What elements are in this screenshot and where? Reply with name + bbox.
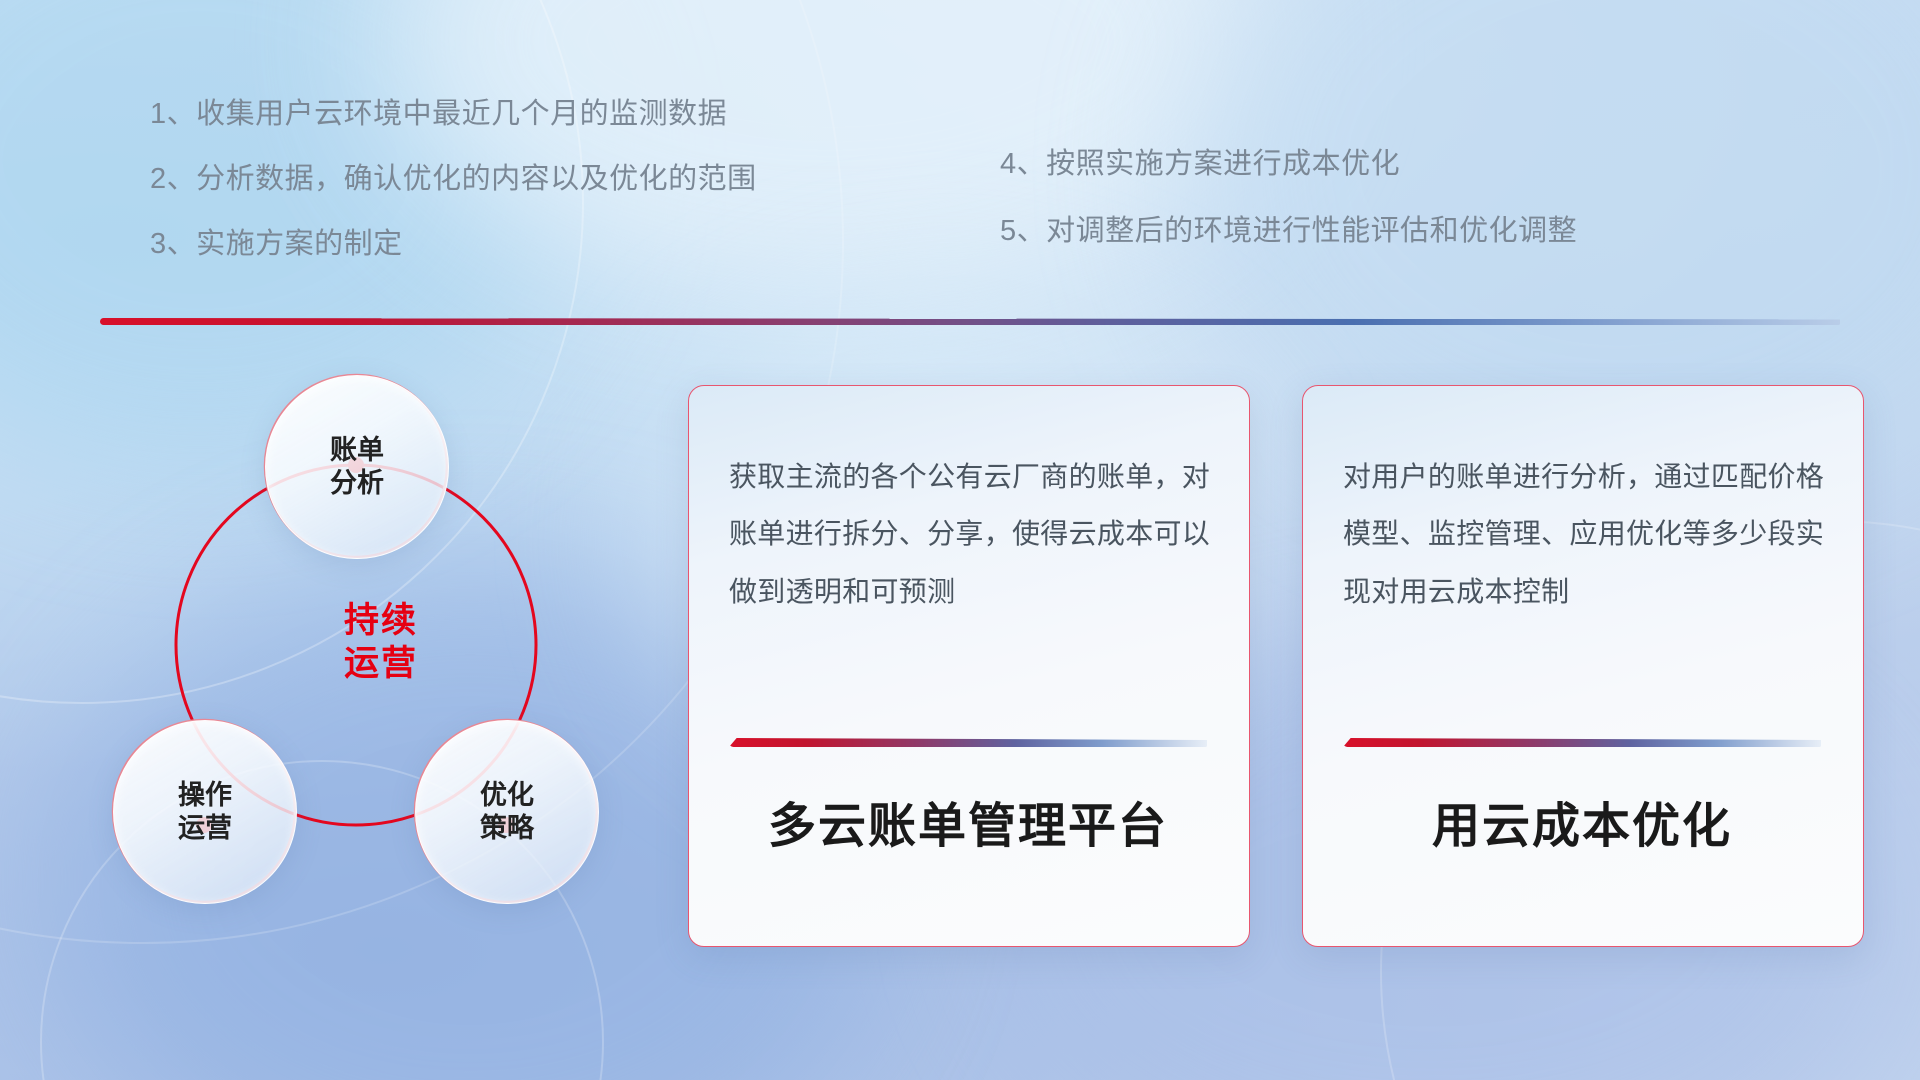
steps-list: 1、收集用户云环境中最近几个月的监测数据 2、分析数据，确认优化的内容以及优化的… — [0, 0, 1920, 300]
venn-bubble-label-line2: 运营 — [178, 813, 232, 843]
list-item: 4、按照实施方案进行成本优化 — [1000, 150, 1577, 179]
card-body-text: 对用户的账单进行分析，通过匹配价格模型、监控管理、应用优化等多少段实现对用云成本… — [1343, 448, 1827, 620]
card-title: 多云账单管理平台 — [729, 786, 1207, 856]
list-item: 5、对调整后的环境进行性能评估和优化调整 — [1000, 217, 1577, 246]
venn-diagram: 账单 分析 操作 运营 优化 策略 持续 运营 — [95, 355, 615, 935]
venn-bubble-label: 账单 分析 — [330, 434, 384, 500]
venn-bubble-optimization[interactable]: 优化 策略 — [415, 720, 599, 904]
card-accent-bar — [729, 738, 1207, 747]
card-accent-bar — [1343, 738, 1821, 747]
venn-center-label-line2: 运营 — [344, 644, 418, 683]
venn-bubble-label: 操作 运营 — [178, 779, 232, 845]
card-title: 用云成本优化 — [1343, 786, 1821, 856]
card-multi-cloud-billing-platform[interactable]: 获取主流的各个公有云厂商的账单，对账单进行拆分、分享，使得云成本可以做到透明和可… — [688, 385, 1250, 947]
steps-column-left: 1、收集用户云环境中最近几个月的监测数据 2、分析数据，确认优化的内容以及优化的… — [150, 100, 757, 295]
steps-column-right: 4、按照实施方案进行成本优化 5、对调整后的环境进行性能评估和优化调整 — [1000, 150, 1577, 284]
venn-bubble-label-line1: 操作 — [178, 780, 232, 810]
list-item: 3、实施方案的制定 — [150, 230, 757, 259]
venn-bubble-label: 优化 策略 — [480, 779, 534, 845]
venn-center-label: 持续 运营 — [291, 600, 471, 685]
venn-bubble-label-line1: 账单 — [330, 435, 384, 465]
list-item: 2、分析数据，确认优化的内容以及优化的范围 — [150, 165, 757, 194]
venn-bubble-label-line2: 策略 — [480, 813, 534, 843]
list-item: 1、收集用户云环境中最近几个月的监测数据 — [150, 100, 757, 129]
venn-bubble-label-line2: 分析 — [330, 468, 384, 498]
venn-bubble-bill-analysis[interactable]: 账单 分析 — [265, 375, 449, 559]
venn-center-label-line1: 持续 — [344, 601, 418, 640]
venn-bubble-label-line1: 优化 — [480, 780, 534, 810]
card-body-text: 获取主流的各个公有云厂商的账单，对账单进行拆分、分享，使得云成本可以做到透明和可… — [729, 448, 1213, 620]
card-cloud-cost-optimization[interactable]: 对用户的账单进行分析，通过匹配价格模型、监控管理、应用优化等多少段实现对用云成本… — [1302, 385, 1864, 947]
venn-bubble-operation[interactable]: 操作 运营 — [113, 720, 297, 904]
